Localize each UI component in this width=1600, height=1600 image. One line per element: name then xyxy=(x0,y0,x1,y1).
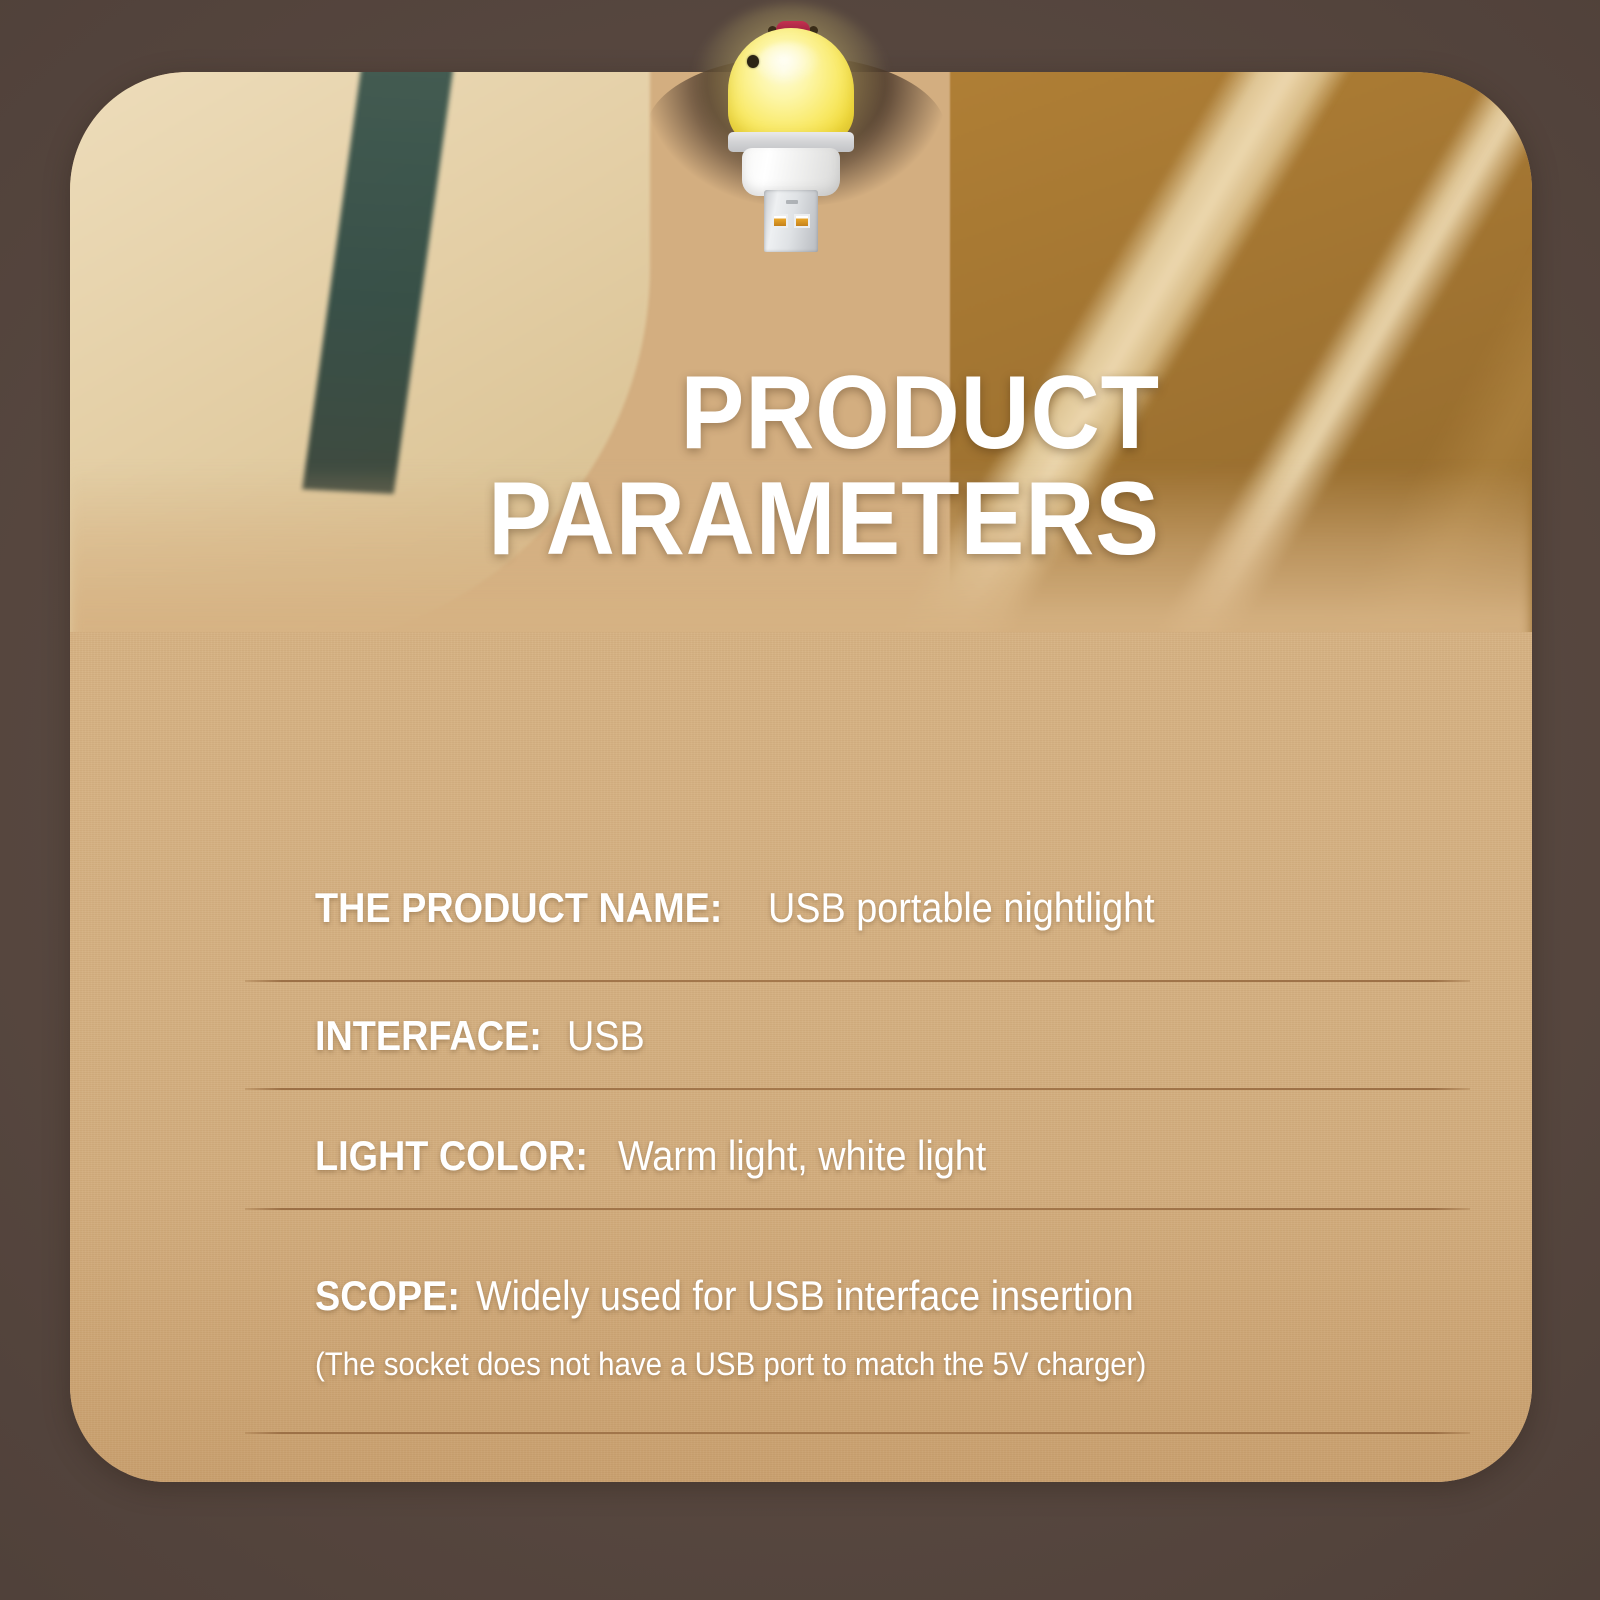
spec-row-text: SCOPE:Widely used for USB interface inse… xyxy=(315,1297,1207,1314)
usb-connector-icon xyxy=(764,190,818,252)
usb-contact-left xyxy=(772,214,788,228)
spec-row-scope-note: (The socket does not have a USB port to … xyxy=(315,1346,1219,1383)
panel-bottom-shading xyxy=(70,1182,1532,1482)
spec-row-scope: SCOPE:Widely used for USB interface inse… xyxy=(315,1272,1207,1320)
usb-contact-right xyxy=(794,214,810,228)
spec-divider-3 xyxy=(245,1208,1470,1210)
spec-row-interface: INTERFACE: USB xyxy=(315,1012,653,1060)
spec-value: USB xyxy=(567,1012,645,1060)
spec-label: LIGHT COLOR: xyxy=(315,1132,588,1180)
page-title-line-1: PRODUCT xyxy=(157,360,1160,466)
spec-row-text: LIGHT COLOR:Warm light, white light xyxy=(315,1157,1028,1174)
usb-nightlight-icon xyxy=(716,18,866,240)
spec-value: Warm light, white light xyxy=(618,1132,986,1180)
spec-note: (The socket does not have a USB port to … xyxy=(315,1346,1146,1383)
lamp-eye-dot xyxy=(747,55,759,68)
spec-label: THE PRODUCT NAME: xyxy=(315,884,722,932)
spec-value: USB portable nightlight xyxy=(768,884,1155,932)
spec-row-text: INTERFACE: USB xyxy=(315,1037,653,1054)
lamp-white-body xyxy=(742,148,840,196)
spec-row-text: THE PRODUCT NAME:USB portable nightlight xyxy=(315,909,1197,926)
page-title-line-2: PARAMETERS xyxy=(157,466,1160,572)
usb-mark xyxy=(786,200,798,204)
spec-label: INTERFACE: xyxy=(315,1012,542,1060)
spec-value: Widely used for USB interface insertion xyxy=(476,1272,1134,1320)
spec-row-light-color: LIGHT COLOR:Warm light, white light xyxy=(315,1132,1028,1180)
spec-divider-1 xyxy=(245,980,1470,982)
page-title: PRODUCT PARAMETERS xyxy=(70,360,1160,572)
product-parameters-card: PRODUCT PARAMETERS THE PRODUCT NAME:USB … xyxy=(70,72,1532,1482)
spec-divider-4 xyxy=(245,1432,1470,1434)
lamp-dome-highlight xyxy=(756,42,822,86)
spec-label: SCOPE: xyxy=(315,1272,460,1320)
spec-row-product-name: THE PRODUCT NAME:USB portable nightlight xyxy=(315,884,1197,932)
spec-divider-2 xyxy=(245,1088,1470,1090)
